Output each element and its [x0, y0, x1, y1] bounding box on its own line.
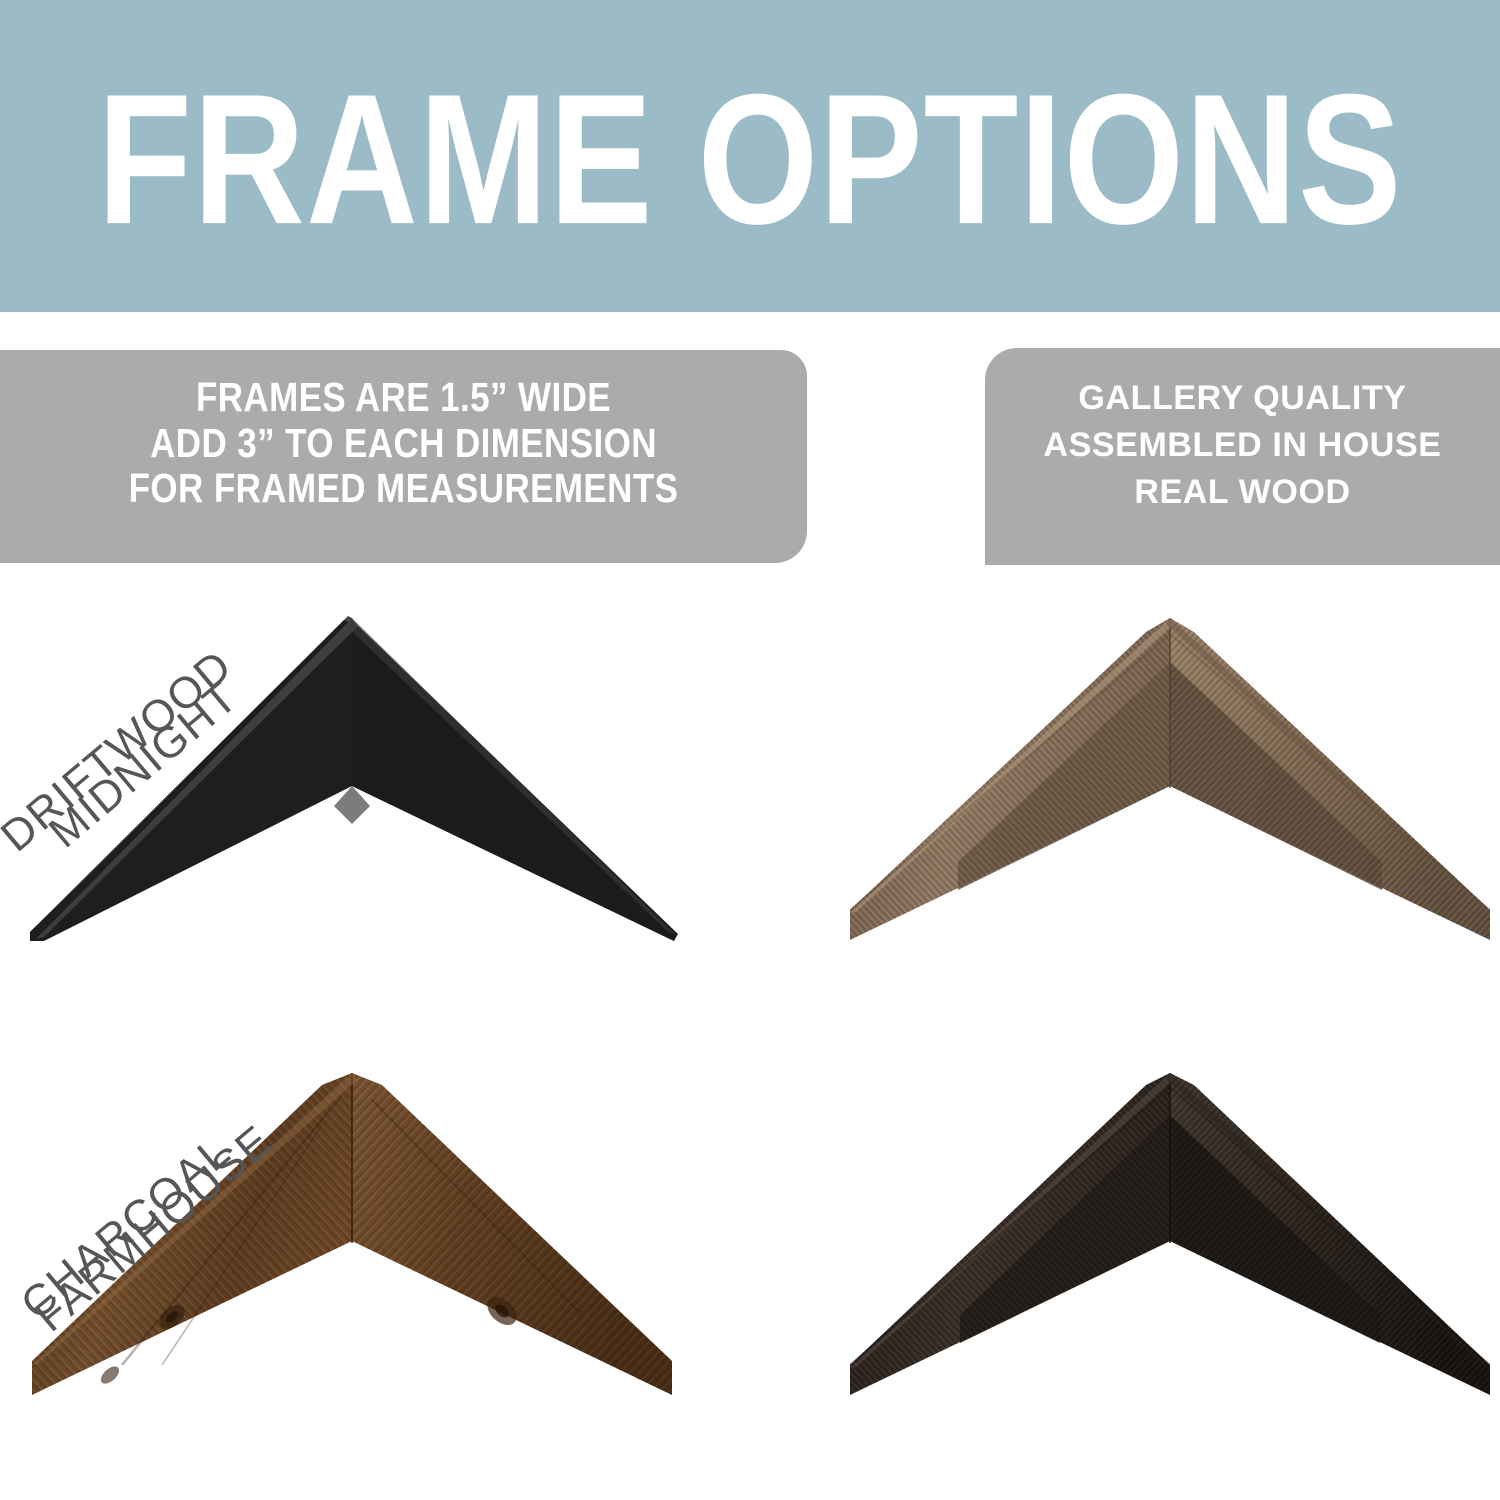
- frame-chevron-driftwood-icon: [840, 610, 1500, 950]
- page-title: FRAME OPTIONS: [97, 60, 1402, 253]
- measurement-info-line-3: FOR FRAMED MEASUREMENTS: [129, 463, 679, 516]
- quality-info-line-2: ASSEMBLED IN HOUSE: [1043, 422, 1441, 469]
- quality-info-box: GALLERY QUALITY ASSEMBLED IN HOUSE REAL …: [985, 348, 1500, 565]
- quality-info-line-3: REAL WOOD: [1134, 469, 1350, 516]
- measurement-info-box: FRAMES ARE 1.5” WIDE ADD 3” TO EACH DIME…: [0, 350, 807, 563]
- header-banner: FRAME OPTIONS: [0, 0, 1500, 312]
- frame-chevron-charcoal-icon: [840, 1065, 1500, 1405]
- frame-sample-driftwood[interactable]: [840, 610, 1500, 950]
- quality-info-line-1: GALLERY QUALITY: [1078, 375, 1406, 422]
- frame-sample-charcoal[interactable]: [840, 1065, 1500, 1405]
